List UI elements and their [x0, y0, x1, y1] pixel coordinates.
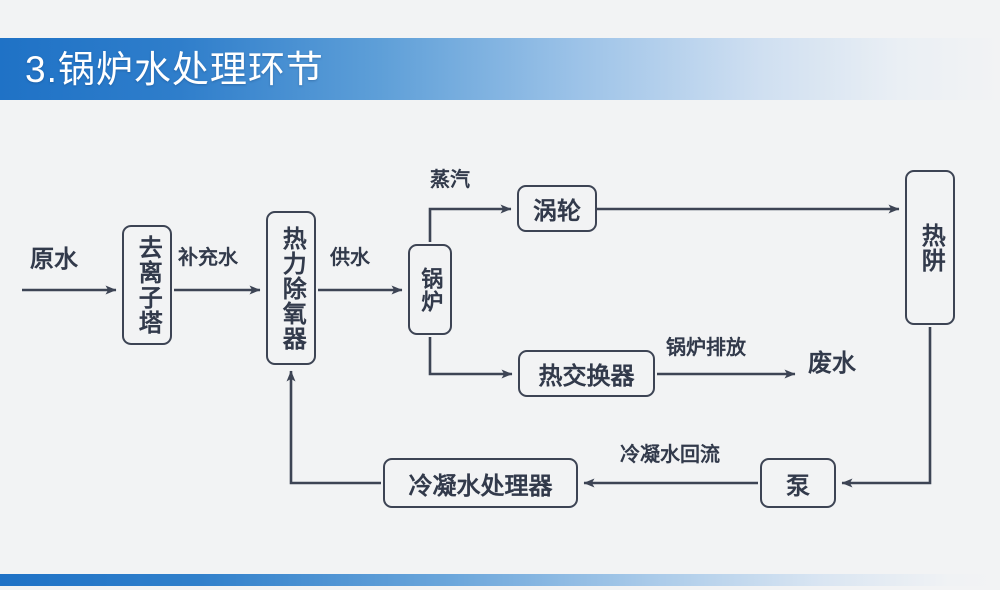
node-boiler-label: 锅炉: [419, 267, 441, 313]
connector-boiler-to-exchanger: [430, 337, 512, 374]
connector-boiler-to-turbine: [430, 209, 511, 242]
node-heat-exchanger[interactable]: 热交换器: [518, 350, 655, 397]
slide-canvas: 3.锅炉水处理环节: [0, 0, 1000, 590]
node-deaerator-label: 热力除氧器: [279, 226, 303, 351]
label-condensate-return: 冷凝水回流: [620, 445, 720, 465]
label-steam: 蒸汽: [430, 170, 470, 190]
label-waste-water: 废水: [808, 352, 856, 376]
label-boiler-blowdown: 锅炉排放: [666, 338, 746, 358]
label-makeup-water: 补充水: [178, 248, 238, 268]
connector-condensate-to-deaerator: [291, 371, 381, 483]
node-heat-exchanger-label: 热交换器: [539, 356, 635, 391]
node-deaerator[interactable]: 热力除氧器: [266, 211, 316, 365]
node-boiler[interactable]: 锅炉: [408, 244, 452, 335]
node-pump-label: 泵: [786, 466, 810, 501]
label-raw-water: 原水: [30, 248, 78, 272]
node-pump[interactable]: 泵: [760, 458, 836, 508]
node-turbine-label: 涡轮: [533, 191, 581, 226]
node-heat-sink-label: 热阱: [918, 223, 942, 273]
page-title: 3.锅炉水处理环节: [25, 41, 324, 98]
node-condensate-treatment[interactable]: 冷凝水处理器: [383, 458, 578, 508]
footer-gradient-bar: [0, 574, 1000, 586]
node-deionizer[interactable]: 去离子塔: [122, 225, 172, 345]
node-heat-sink[interactable]: 热阱: [905, 170, 955, 325]
label-feed-water: 供水: [330, 248, 370, 268]
node-turbine[interactable]: 涡轮: [517, 185, 597, 232]
node-condensate-treatment-label: 冷凝水处理器: [409, 466, 553, 501]
node-deionizer-label: 去离子塔: [135, 235, 159, 335]
flow-diagram: 去离子塔 热力除氧器 锅炉 涡轮 热阱 热交换器 冷凝水处理器 泵 原水 补充水…: [0, 100, 1000, 574]
